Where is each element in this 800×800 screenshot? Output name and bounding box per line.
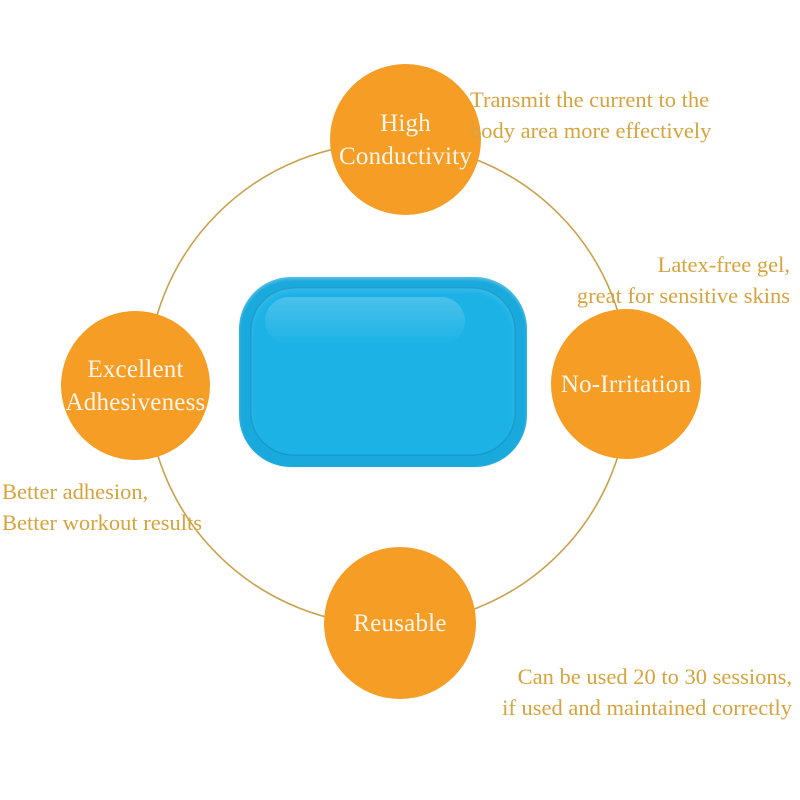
feature-bubble-conductivity-label: High Conductivity xyxy=(339,107,472,173)
feature-caption-adhesiveness: Better adhesion, Better workout results xyxy=(2,477,202,539)
gel-pad xyxy=(239,277,527,467)
feature-caption-irritation: Latex-free gel, great for sensitive skin… xyxy=(577,250,790,312)
feature-bubble-irritation-label: No-Irritation xyxy=(561,368,691,401)
caption-line2: if used and maintained correctly xyxy=(502,693,792,724)
caption-line1: Transmit the current to the xyxy=(470,85,711,116)
feature-bubble-reusable[interactable]: Reusable xyxy=(324,547,476,699)
caption-line1: Can be used 20 to 30 sessions, xyxy=(502,662,792,693)
feature-caption-conductivity: Transmit the current to the body area mo… xyxy=(470,85,711,147)
caption-line1: Latex-free gel, xyxy=(577,250,790,281)
feature-bubble-adhesiveness[interactable]: Excellent Adhesiveness xyxy=(61,311,210,460)
caption-line2: Better workout results xyxy=(2,508,202,539)
feature-bubble-adhesiveness-label: Excellent Adhesiveness xyxy=(66,353,206,419)
feature-title-line2: Conductivity xyxy=(339,140,472,173)
feature-bubble-reusable-label: Reusable xyxy=(353,607,446,640)
feature-title-line2: Adhesiveness xyxy=(66,386,206,419)
feature-bubble-irritation[interactable]: No-Irritation xyxy=(551,309,701,459)
gel-pad-inner-surface xyxy=(250,287,516,456)
feature-title-line1: No-Irritation xyxy=(561,371,691,398)
infographic-canvas: High Conductivity Transmit the current t… xyxy=(0,0,800,800)
feature-bubble-conductivity[interactable]: High Conductivity xyxy=(330,64,481,215)
caption-line1: Better adhesion, xyxy=(2,477,202,508)
caption-line2: great for sensitive skins xyxy=(577,281,790,312)
feature-title-line1: Excellent xyxy=(87,356,183,383)
feature-title-line1: High xyxy=(380,110,431,137)
caption-line2: body area more effectively xyxy=(470,116,711,147)
feature-caption-reusable: Can be used 20 to 30 sessions, if used a… xyxy=(502,662,792,724)
feature-title-line1: Reusable xyxy=(353,610,446,637)
